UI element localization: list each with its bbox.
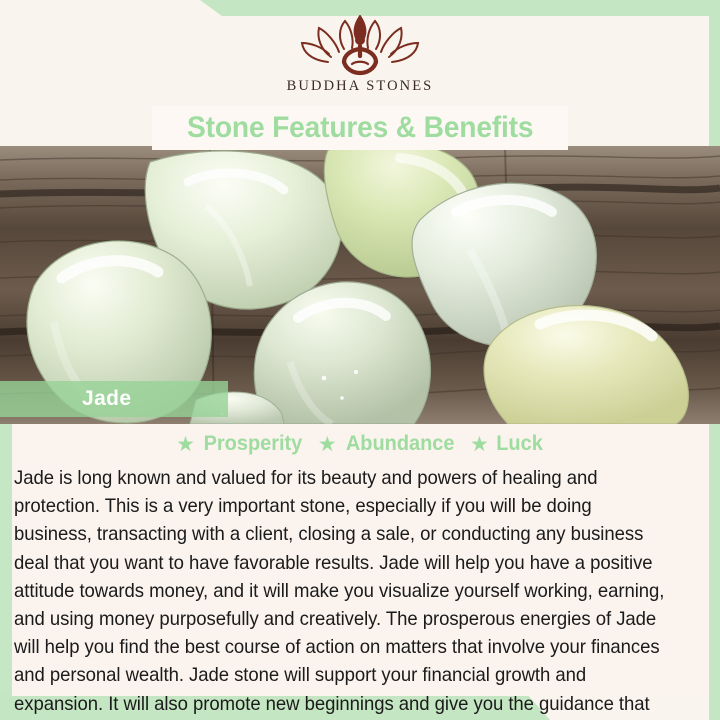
benefit-item-prosperity: ★ Prosperity <box>176 432 305 456</box>
benefit-label: Prosperity <box>204 432 303 456</box>
lotus-meditation-icon <box>298 14 422 80</box>
brand-name: BUDDHA STONES <box>287 78 434 95</box>
star-icon: ★ <box>470 434 489 455</box>
benefit-item-abundance: ★ Abundance <box>318 432 457 456</box>
benefits-row: ★ Prosperity ★ Abundance ★ Luck <box>12 428 708 460</box>
content-panel: ★ Prosperity ★ Abundance ★ Luck Jade is … <box>12 424 708 696</box>
benefit-item-luck: ★ Luck <box>470 432 544 456</box>
photo-caption-band: Jade <box>0 381 228 417</box>
star-icon: ★ <box>176 434 195 455</box>
left-accent-strip <box>0 376 12 696</box>
infographic-page: BUDDHA STONES <box>0 0 720 720</box>
title-panel: Stone Features & Benefits <box>152 106 568 150</box>
photo-caption-label: Jade <box>82 387 131 411</box>
page-title: Stone Features & Benefits <box>187 111 533 145</box>
benefit-label: Luck <box>496 432 543 456</box>
description-text: Jade is long known and valued for its be… <box>14 464 673 720</box>
benefit-label: Abundance <box>346 432 455 456</box>
brand-logo: BUDDHA STONES <box>0 14 720 104</box>
star-icon: ★ <box>318 434 337 455</box>
